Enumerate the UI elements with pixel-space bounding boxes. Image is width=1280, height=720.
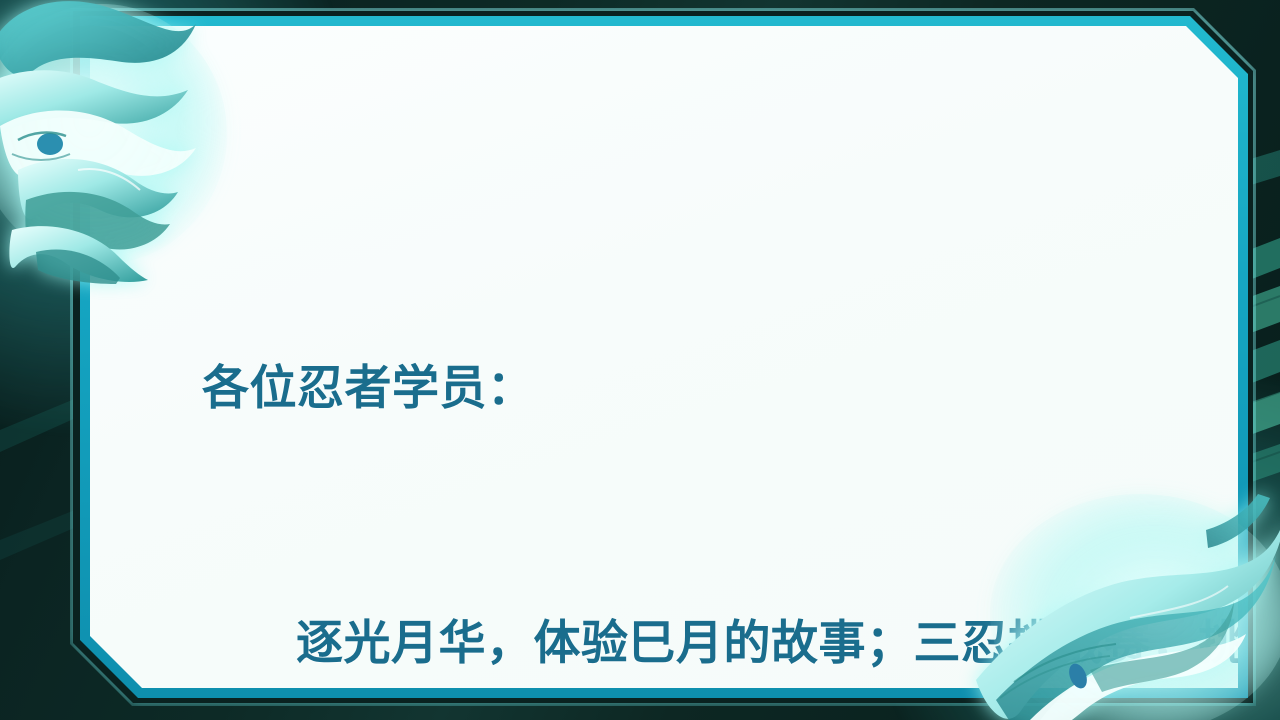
notice-card: 各位忍者学员： 逐光月华，体验巳月的故事；三忍挑战赛，挑战木叶三忍；情报搜寻，集… [90,26,1238,688]
notice-salutation: 各位忍者学员： [202,346,1280,431]
notice-text-block: 各位忍者学员： 逐光月华，体验巳月的故事；三忍挑战赛，挑战木叶三忍；情报搜寻，集… [202,176,1280,720]
announcement-screen: 各位忍者学员： 逐光月华，体验巳月的故事；三忍挑战赛，挑战木叶三忍；情报搜寻，集… [0,0,1280,720]
